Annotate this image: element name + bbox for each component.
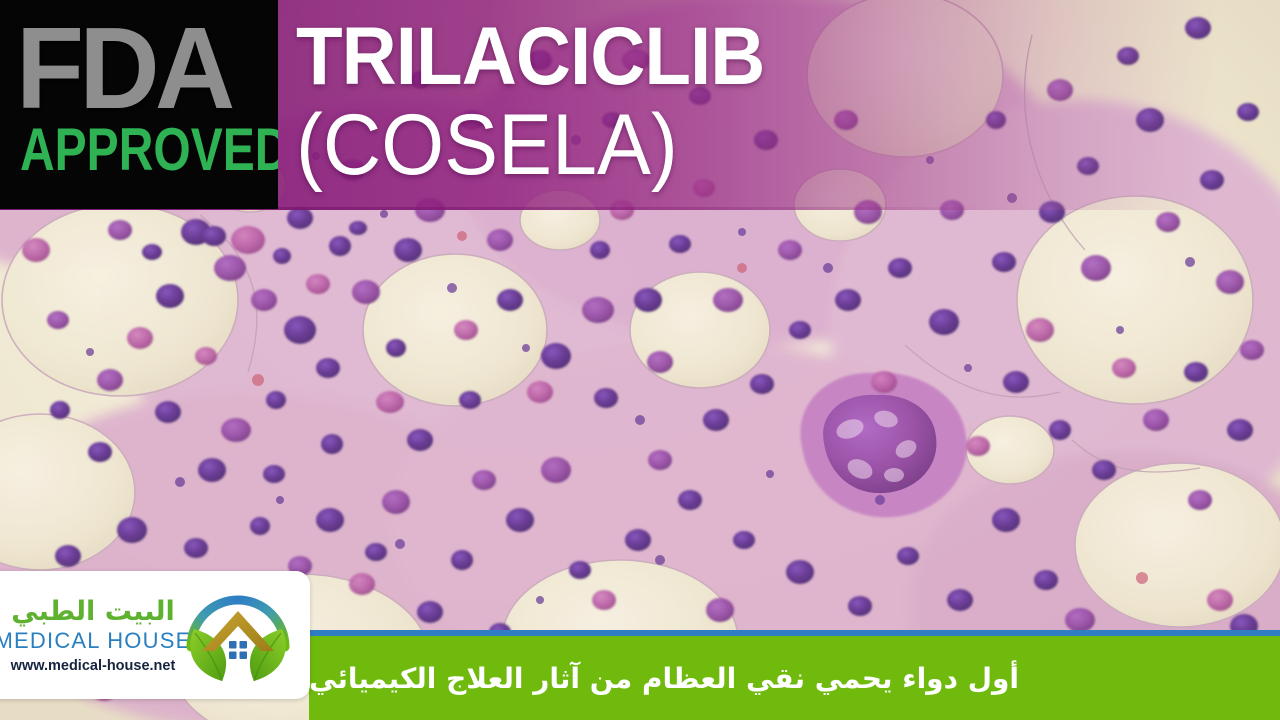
medical-house-logo-mark [182, 589, 294, 683]
caption-bar: أول دواء يحمي نقي العظام من آثار العلاج … [309, 636, 1280, 720]
approved-label: APPROVED [20, 120, 278, 180]
brand-name-arabic: البيت الطبي [11, 596, 174, 628]
brand-name-latin: MEDICAL HOUSE [0, 628, 191, 654]
caption-text: أول دواء يحمي نقي العظام من آثار العلاج … [309, 636, 1256, 720]
brand-logo-card[interactable]: البيت الطبي MEDICAL HOUSE www.medical-ho… [0, 571, 310, 699]
fda-approved-badge: FDA APPROVED [0, 0, 278, 209]
brand-logo-text: البيت الطبي MEDICAL HOUSE www.medical-ho… [0, 585, 186, 685]
poster-canvas: FDA APPROVED TRILACICLIB (COSELA) أول دو… [0, 0, 1280, 720]
brand-website-url: www.medical-house.net [11, 657, 176, 675]
fda-label: FDA [16, 10, 230, 126]
